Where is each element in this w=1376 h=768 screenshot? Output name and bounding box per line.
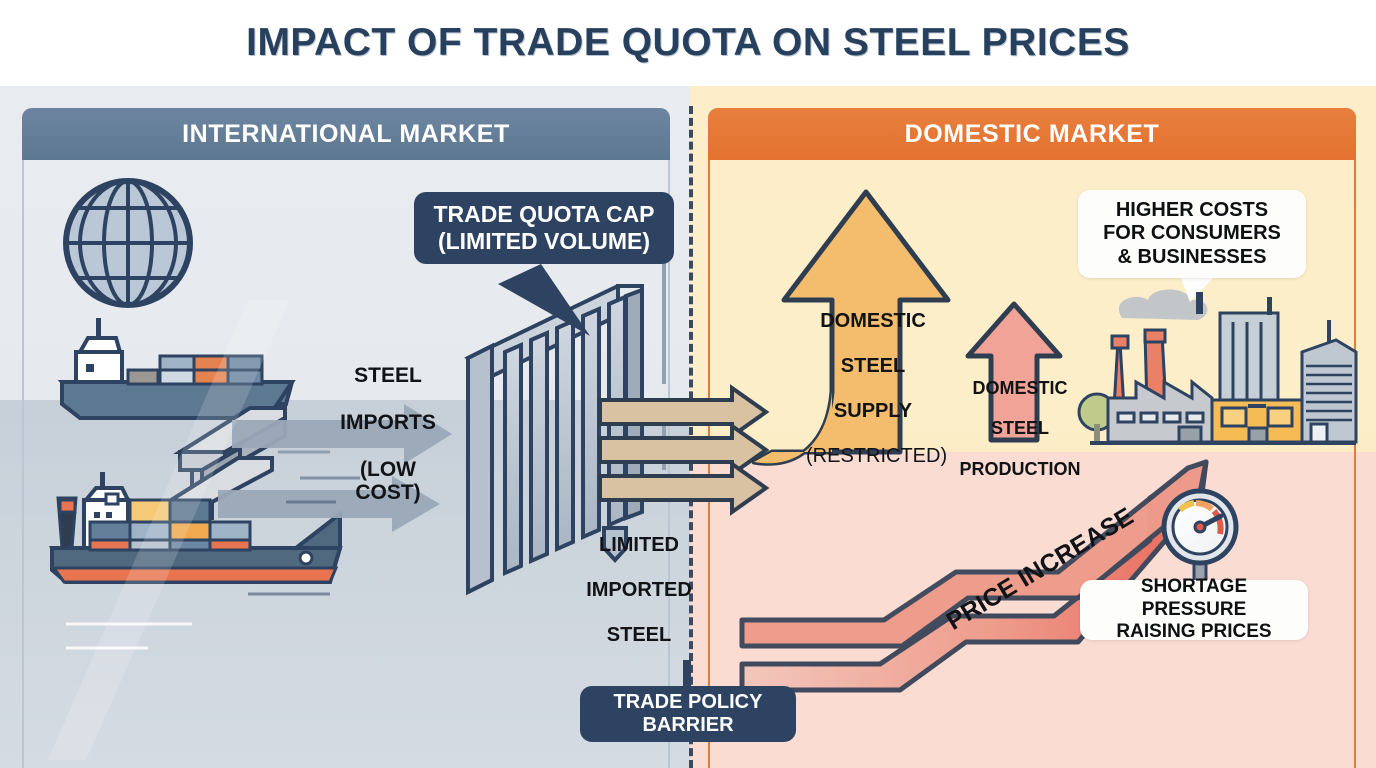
higher-costs-callout[interactable]: HIGHER COSTSFOR CONSUMERS& BUSINESSES xyxy=(1078,190,1306,278)
steel-imports-label: STEEL IMPORTS (LOW COST) xyxy=(328,340,448,505)
trade-quota-cap-callout[interactable]: TRADE QUOTA CAP(LIMITED VOLUME) xyxy=(414,192,674,264)
trade-policy-barrier-text: TRADE POLICYBARRIER xyxy=(614,691,763,737)
international-market-header: INTERNATIONAL MARKET xyxy=(22,108,670,160)
market-divider-line xyxy=(689,106,693,768)
higher-costs-text: HIGHER COSTSFOR CONSUMERS& BUSINESSES xyxy=(1103,199,1281,270)
shortage-pressure-text: SHORTAGE PRESSURERAISING PRICES xyxy=(1090,576,1298,643)
limited-imported-steel-label: LIMITED IMPORTED STEEL xyxy=(578,512,700,646)
title-band: IMPACT OF TRADE QUOTA ON STEEL PRICES xyxy=(0,0,1376,86)
domestic-steel-supply-label: DOMESTIC STEEL SUPPLY (RESTRICTED) xyxy=(806,288,940,467)
domestic-market-header: DOMESTIC MARKET xyxy=(708,108,1356,160)
trade-policy-barrier-callout[interactable]: TRADE POLICYBARRIER xyxy=(580,686,796,742)
page-title: IMPACT OF TRADE QUOTA ON STEEL PRICES xyxy=(246,21,1130,65)
trade-quota-cap-text: TRADE QUOTA CAP(LIMITED VOLUME) xyxy=(433,201,654,254)
infographic-canvas: IMPACT OF TRADE QUOTA ON STEEL PRICES IN… xyxy=(0,0,1376,768)
domestic-steel-production-label: DOMESTIC STEEL PRODUCTION xyxy=(950,358,1090,479)
shortage-pressure-callout[interactable]: SHORTAGE PRESSURERAISING PRICES xyxy=(1080,580,1308,640)
